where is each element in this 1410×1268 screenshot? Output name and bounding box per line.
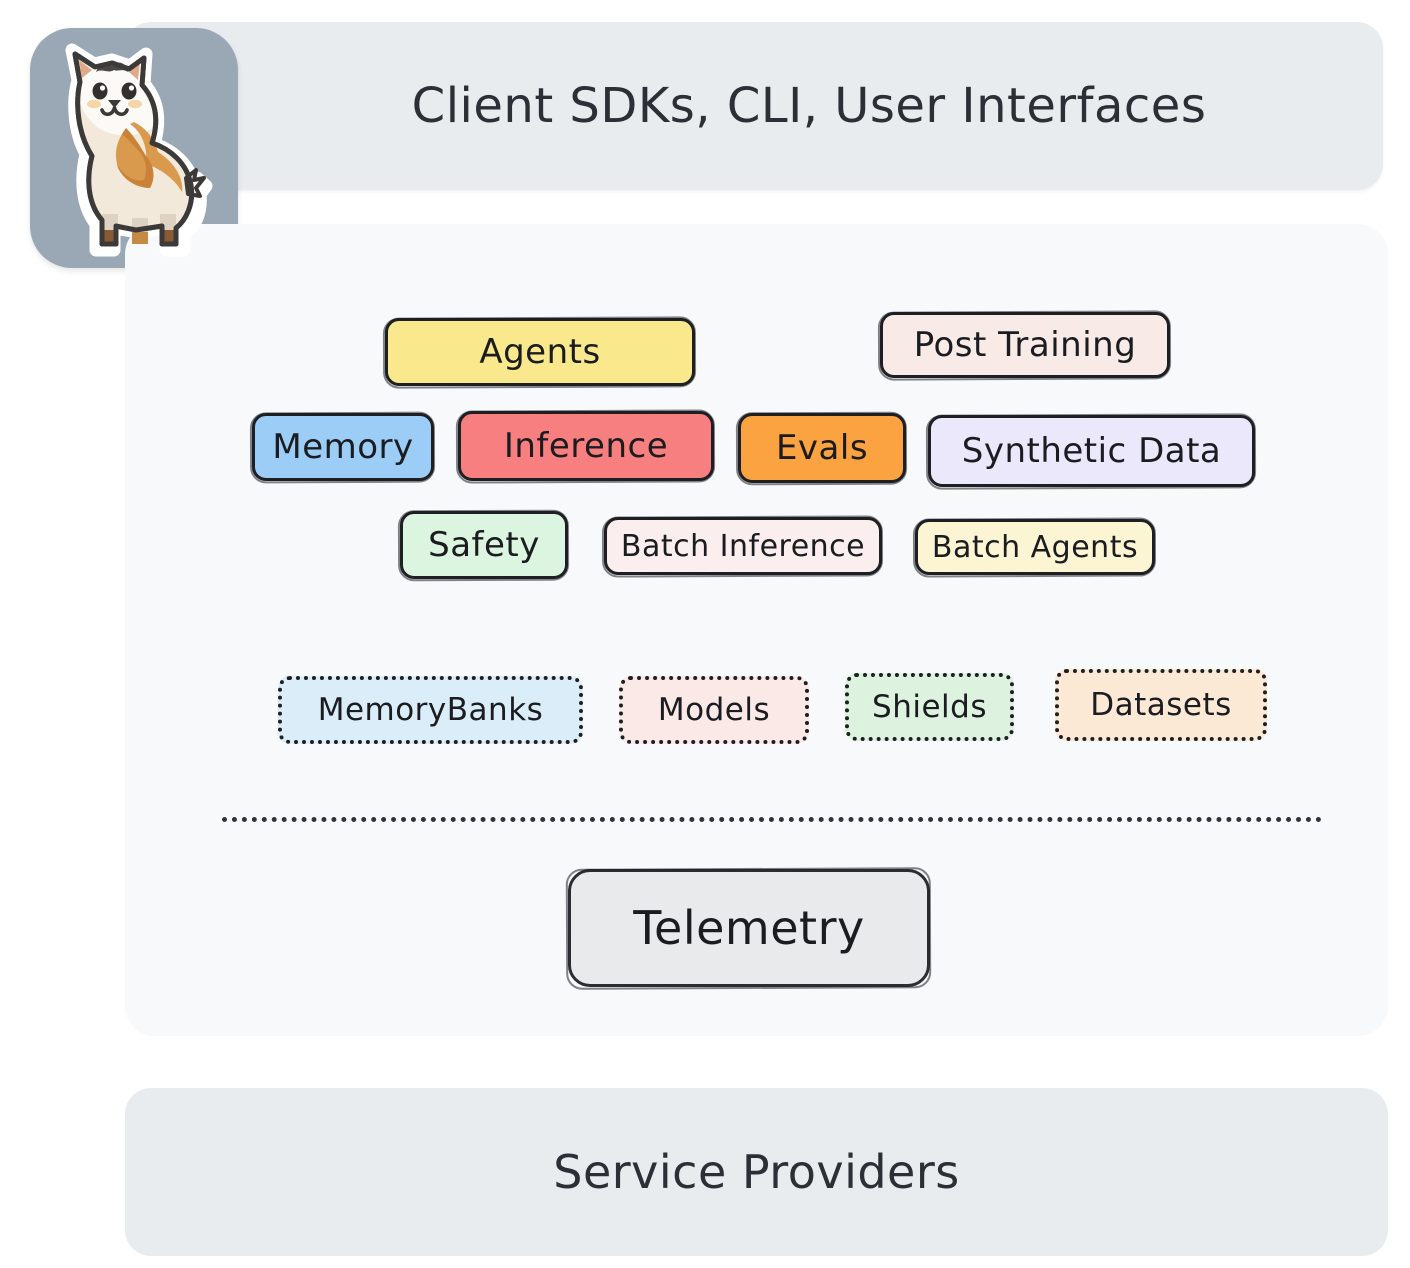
resource-node-label: Datasets	[1090, 687, 1232, 723]
api-node-label: Batch Agents	[932, 530, 1138, 565]
api-node-memory[interactable]: Memory	[252, 413, 434, 481]
telemetry-label: Telemetry	[633, 901, 864, 955]
api-node-label: Post Training	[914, 325, 1137, 365]
api-node-batch-agents[interactable]: Batch Agents	[915, 519, 1155, 575]
api-node-evals[interactable]: Evals	[738, 413, 906, 483]
resource-node-label: MemoryBanks	[318, 692, 544, 728]
api-node-safety[interactable]: Safety	[400, 511, 568, 579]
api-node-inference[interactable]: Inference	[458, 411, 714, 481]
resource-node-memorybanks[interactable]: MemoryBanks	[278, 676, 583, 744]
api-node-label: Inference	[504, 426, 668, 466]
api-node-label: Agents	[479, 332, 600, 372]
resource-node-shields[interactable]: Shields	[845, 673, 1014, 741]
api-node-label: Memory	[272, 427, 413, 467]
section-divider	[222, 817, 1322, 822]
api-node-synthetic-data[interactable]: Synthetic Data	[928, 415, 1255, 487]
footer-title: Service Providers	[125, 1088, 1388, 1256]
resource-node-datasets[interactable]: Datasets	[1055, 669, 1267, 741]
api-node-label: Evals	[776, 428, 868, 468]
telemetry-node[interactable]: Telemetry	[568, 869, 930, 987]
resource-node-label: Shields	[872, 689, 987, 725]
resource-node-models[interactable]: Models	[619, 676, 809, 744]
resource-node-label: Models	[658, 692, 770, 728]
api-node-batch-inference[interactable]: Batch Inference	[604, 517, 882, 575]
api-node-post-training[interactable]: Post Training	[880, 312, 1170, 378]
api-node-agents[interactable]: Agents	[385, 318, 695, 386]
api-node-label: Synthetic Data	[962, 431, 1222, 471]
llama-logo-icon	[34, 28, 234, 264]
header-title: Client SDKs, CLI, User Interfaces	[125, 22, 1383, 190]
api-node-label: Batch Inference	[621, 529, 865, 564]
api-node-label: Safety	[428, 525, 540, 565]
